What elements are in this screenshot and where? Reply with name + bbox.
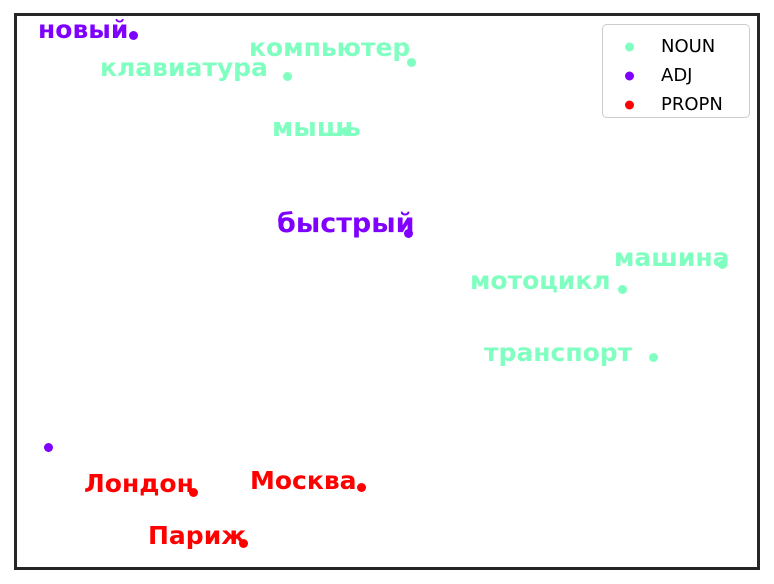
scatter-plot-figure: клавиатуракомпьютермышьмашинамотоциклтра… bbox=[0, 0, 774, 584]
word-label: компьютер bbox=[249, 35, 410, 60]
legend-item-noun[interactable]: NOUN bbox=[603, 32, 749, 62]
legend-label: ADJ bbox=[661, 67, 692, 85]
legend-dot-icon bbox=[625, 101, 634, 110]
legend-dot-icon bbox=[625, 72, 634, 81]
data-point-marker bbox=[649, 353, 658, 362]
legend-dot-icon bbox=[625, 43, 634, 52]
legend-label: NOUN bbox=[661, 38, 715, 56]
data-point-marker bbox=[44, 443, 53, 452]
word-label: транспорт bbox=[484, 340, 632, 365]
data-point-marker bbox=[189, 488, 198, 497]
word-label: Лондон bbox=[84, 471, 194, 496]
data-point-marker bbox=[129, 31, 138, 40]
word-label: мотоцикл bbox=[470, 268, 611, 293]
data-point-marker bbox=[357, 483, 366, 492]
word-label: Париж bbox=[148, 523, 246, 548]
data-point-marker bbox=[618, 285, 627, 294]
data-point-marker bbox=[407, 58, 416, 67]
word-label: новый bbox=[38, 17, 128, 42]
word-label: машина bbox=[614, 245, 730, 270]
data-point-marker bbox=[283, 72, 292, 81]
legend-label: PROPN bbox=[661, 96, 723, 114]
legend-item-adj[interactable]: ADJ bbox=[603, 61, 749, 91]
pos-legend: NOUNADJPROPN bbox=[602, 24, 750, 118]
word-label: Москва bbox=[250, 468, 357, 493]
word-label: клавиатура bbox=[100, 55, 268, 80]
word-label: быстрый bbox=[277, 210, 415, 237]
data-point-marker bbox=[404, 229, 413, 238]
data-point-marker bbox=[239, 539, 248, 548]
legend-item-propn[interactable]: PROPN bbox=[603, 90, 749, 120]
data-point-marker bbox=[718, 260, 727, 269]
data-point-marker bbox=[341, 127, 350, 136]
